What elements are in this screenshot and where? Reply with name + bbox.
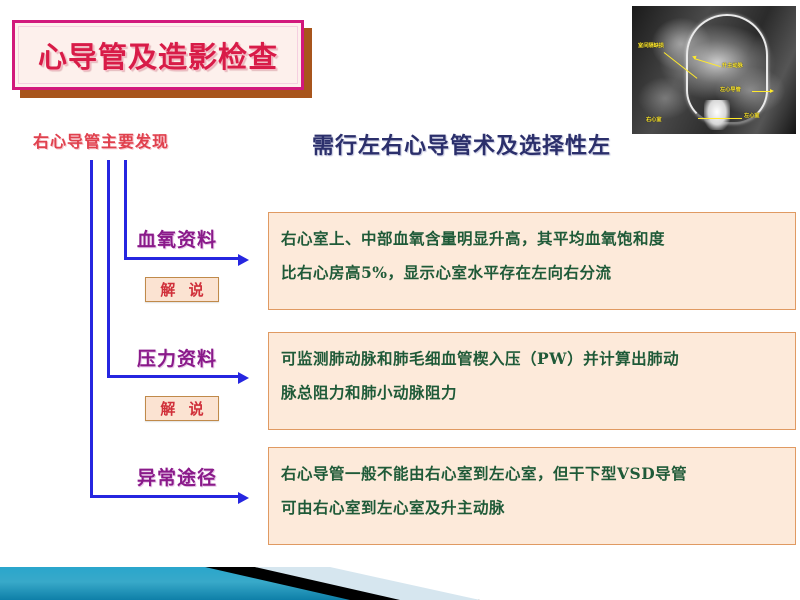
explain-button-label: 解 说 [156,398,207,419]
content-box-abnormal-route: 右心导管一般不能由右心室到左心室，但干下型VSD导管 可由右心室到左心室及升主动… [268,447,796,545]
angiogram-label-left-catheter: 左心导管 [720,88,741,93]
connector-vertical-branch-3 [90,160,93,498]
footer-band-graphic [0,540,800,600]
title-plaque: 心导管及造影检查 [12,20,304,90]
angiogram-arrow-left-catheter [770,89,774,93]
angiogram-image: 室间隔缺损 升主动脉 左心导管 右心室 左心室 [632,6,796,134]
angiogram-label-right-ventricle: 右心室 [646,118,662,123]
content-box-pressure-data: 可监测肺动脉和肺毛细血管楔入压（PW）并计算出肺动 脉总阻力和肺小动脉阻力 [268,332,796,430]
footer-decorative-band [0,540,800,600]
connector-horizontal-branch-2 [107,375,240,378]
slide-canvas: 心导管及造影检查 室间隔缺损 升主动脉 左心导管 右心室 左心室 需行左右心导管… [0,0,800,600]
explain-button-oxygen-data[interactable]: 解 说 [145,277,219,302]
content-line: 右心室上、中部血氧含量明显升高，其平均血氧饱和度 [281,222,783,256]
angiogram-label-vsd: 室间隔缺损 [638,44,664,49]
connector-vertical-branch-1 [124,160,127,260]
connector-arrow-branch-2 [238,372,249,384]
angiogram-leader-left-catheter [752,91,772,92]
angiogram-label-left-ventricle: 左心室 [744,114,760,119]
content-line: 右心导管一般不能由右心室到左心室，但干下型VSD导管 [281,457,783,491]
connector-horizontal-branch-3 [90,495,240,498]
content-box-oxygen-data: 右心室上、中部血氧含量明显升高，其平均血氧饱和度 比右心房高5%，显示心室水平存… [268,212,796,310]
branch-label-oxygen-data: 血氧资料 [137,225,217,252]
branch-label-abnormal-route: 异常途径 [137,463,217,490]
connector-horizontal-branch-1 [124,257,240,260]
connector-arrow-branch-3 [238,492,249,504]
content-line: 脉总阻力和肺小动脉阻力 [281,376,783,410]
content-line: 可由右心室到左心室及升主动脉 [281,491,783,525]
explain-button-pressure-data[interactable]: 解 说 [145,396,219,421]
connector-arrow-branch-1 [238,254,249,266]
angiogram-leader-left-ventricle [698,118,742,119]
explain-button-label: 解 说 [156,279,207,300]
content-line: 可监测肺动脉和肺毛细血管楔入压（PW）并计算出肺动 [281,342,783,376]
page-title: 心导管及造影检查 [38,34,278,76]
connector-vertical-branch-2 [107,160,110,378]
contrast-blob-shape [704,100,730,130]
section-heading: 需行左右心导管术及选择性左 [312,128,611,160]
content-line: 比右心房高5%，显示心室水平存在左向右分流 [281,256,783,290]
root-label: 右心导管主要发现 [33,128,169,152]
angiogram-label-ascending-aorta: 升主动脉 [722,64,743,69]
branch-label-pressure-data: 压力资料 [137,344,217,371]
